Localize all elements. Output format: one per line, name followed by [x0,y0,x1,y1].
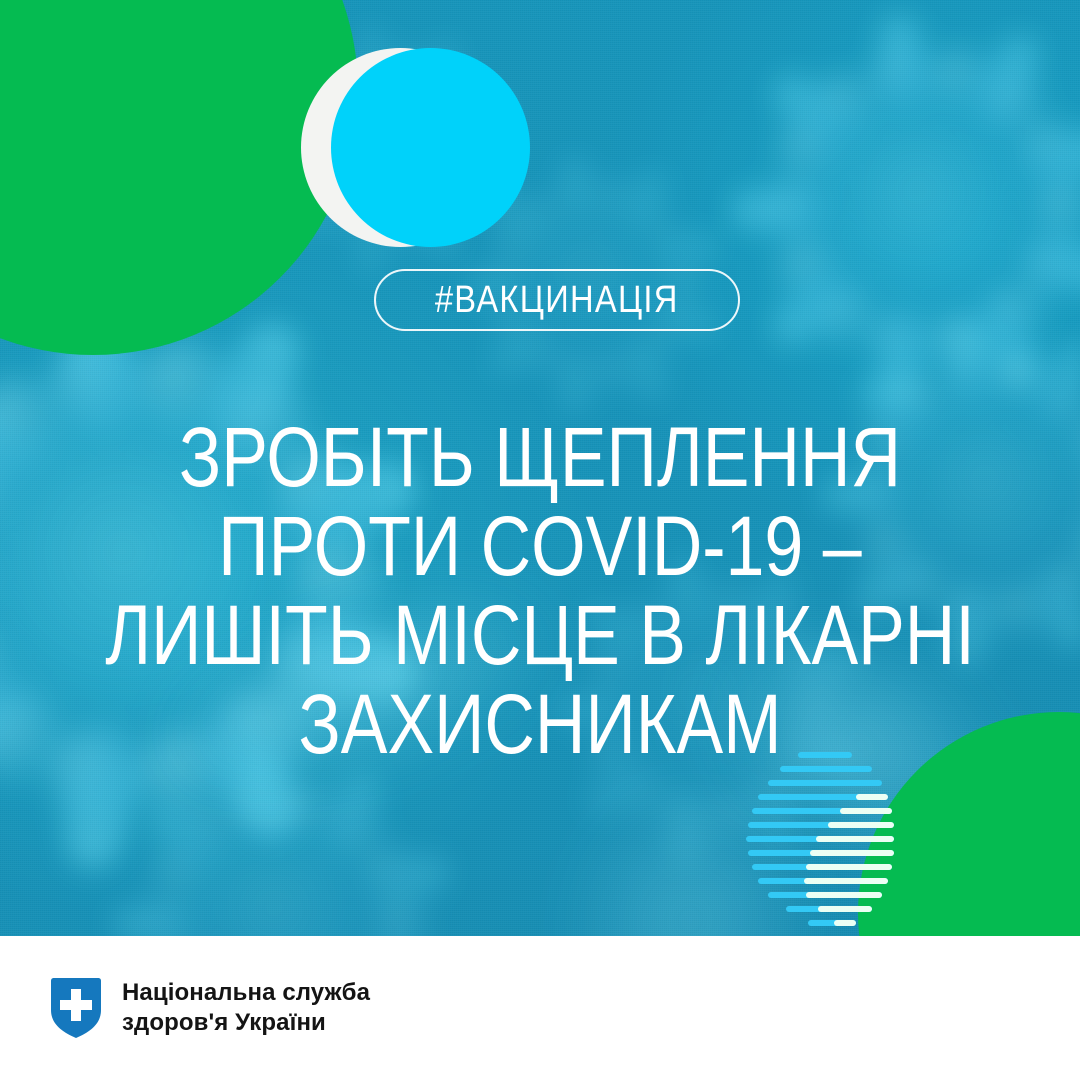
stripe-row [758,794,888,800]
stripe-row [752,808,892,814]
stripe-row-highlight [834,920,856,926]
footer-bar: Національна служба здоров'я України [0,936,1080,1080]
hashtag-badge: #ВАКЦИНАЦІЯ [374,269,740,331]
stripe-row [748,822,894,828]
stripe-row-highlight [804,878,888,884]
cyan-circle [331,48,530,247]
headline: ЗРОБІТЬ ЩЕПЛЕННЯ ПРОТИ COVID-19 – ЛИШІТЬ… [0,413,1080,769]
stripe-row [768,892,882,898]
poster-canvas: #ВАКЦИНАЦІЯ ЗРОБІТЬ ЩЕПЛЕННЯ ПРОТИ COVID… [0,0,1080,1080]
stripe-row-highlight [806,864,892,870]
stripe-row [752,864,892,870]
stripe-row-highlight [818,906,872,912]
headline-line-3: ЛИШІТЬ МІСЦЕ В ЛІКАРНІ [90,591,990,680]
stripe-row-highlight [810,850,894,856]
organization-name-line-2: здоров'я України [122,1008,370,1038]
organization-logo [48,976,104,1040]
headline-line-4: ЗАХИСНИКАМ [90,680,990,769]
stripe-row-highlight [806,892,882,898]
stripe-row [768,780,882,786]
stripe-row-highlight [828,822,894,828]
stripe-row-highlight [856,794,888,800]
stripe-row [808,920,856,926]
organization-name-line-1: Національна служба [122,978,370,1008]
stripe-row [758,878,888,884]
hashtag-badge-label: #ВАКЦИНАЦІЯ [435,279,679,322]
stripe-row [748,850,894,856]
organization-name: Національна служба здоров'я України [122,978,370,1038]
stripe-row-highlight [816,836,894,842]
stripe-row-highlight [840,808,892,814]
stripe-row [786,906,872,912]
headline-line-1: ЗРОБІТЬ ЩЕПЛЕННЯ [90,413,990,502]
stripe-row [746,836,894,842]
striped-disc-decoration [742,752,932,927]
shield-cross-icon [48,976,104,1040]
headline-line-2: ПРОТИ COVID-19 – [90,502,990,591]
